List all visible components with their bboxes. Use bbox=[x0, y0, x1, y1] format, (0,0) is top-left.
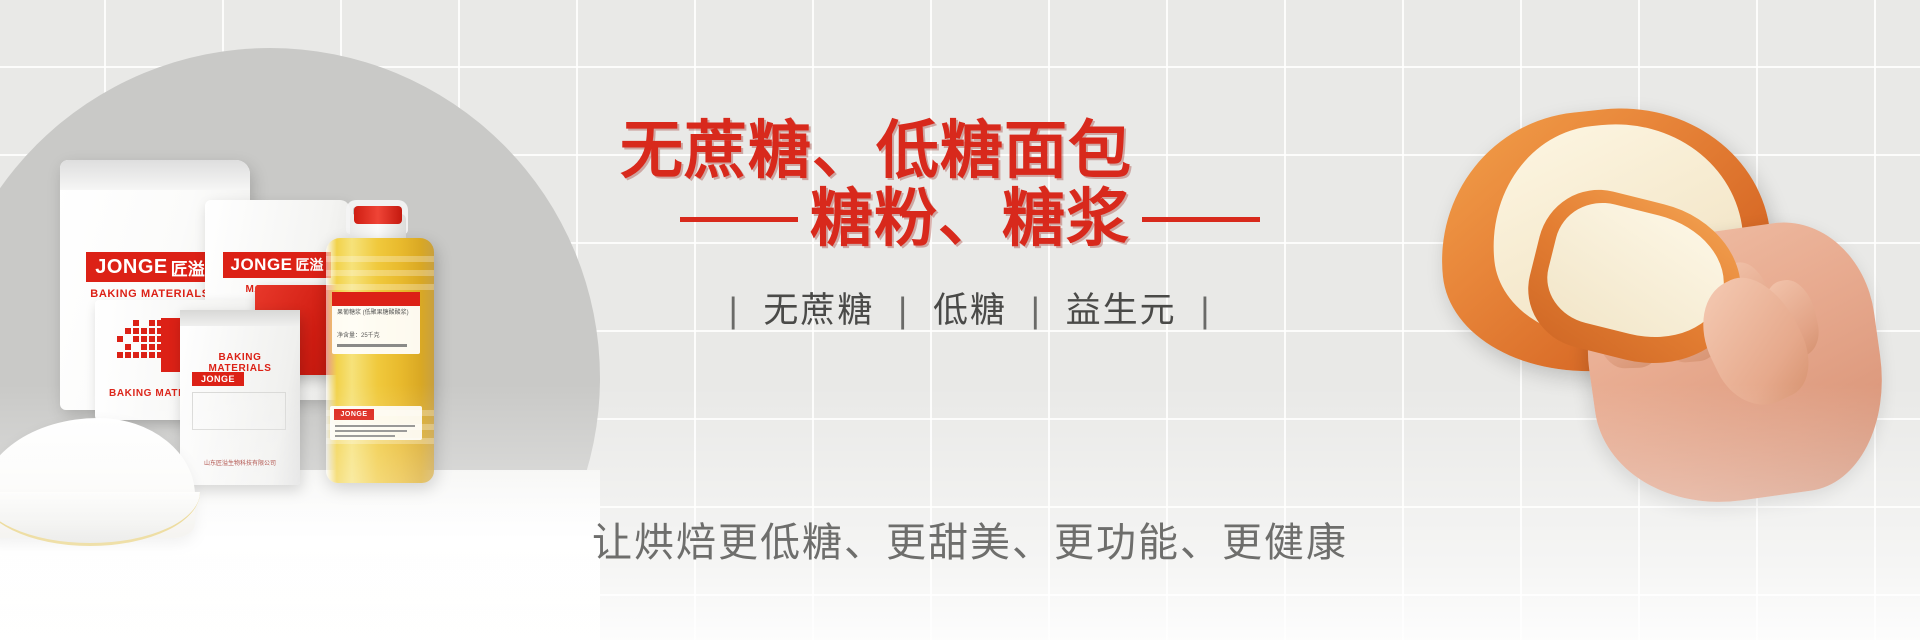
feature-tag-1: 低糖 bbox=[933, 291, 1007, 330]
feature-tag-2: 益生元 bbox=[1066, 291, 1177, 330]
feature-tag-0: 无蔗糖 bbox=[763, 291, 874, 330]
tag-separator-1: | bbox=[898, 291, 909, 330]
headline-line-2: 糖粉、糖浆 bbox=[810, 187, 1130, 253]
headline-block: 无蔗糖、低糖面包 糖粉、糖浆 | 无蔗糖 | 低糖 | 益生元 | bbox=[620, 118, 1320, 333]
feature-tag-list: | 无蔗糖 | 低糖 | 益生元 | bbox=[620, 282, 1320, 333]
tag-separator-2: | bbox=[1031, 291, 1042, 330]
headline-line-1: 无蔗糖、低糖面包 bbox=[620, 118, 1320, 185]
bottom-tagline: 让烘焙更低糖、更甜美、更功能、更健康 bbox=[560, 510, 1380, 568]
tag-separator-3: | bbox=[1200, 291, 1211, 330]
rule-right bbox=[1142, 217, 1260, 222]
tag-separator-0: | bbox=[729, 291, 740, 330]
promo-banner: JONGE 匠溢 BAKING MATERIALS 山东匠溢 JONGE 匠溢 … bbox=[0, 0, 1920, 640]
rule-left bbox=[680, 217, 798, 222]
headline-line-2-row: 糖粉、糖浆 bbox=[620, 187, 1320, 253]
